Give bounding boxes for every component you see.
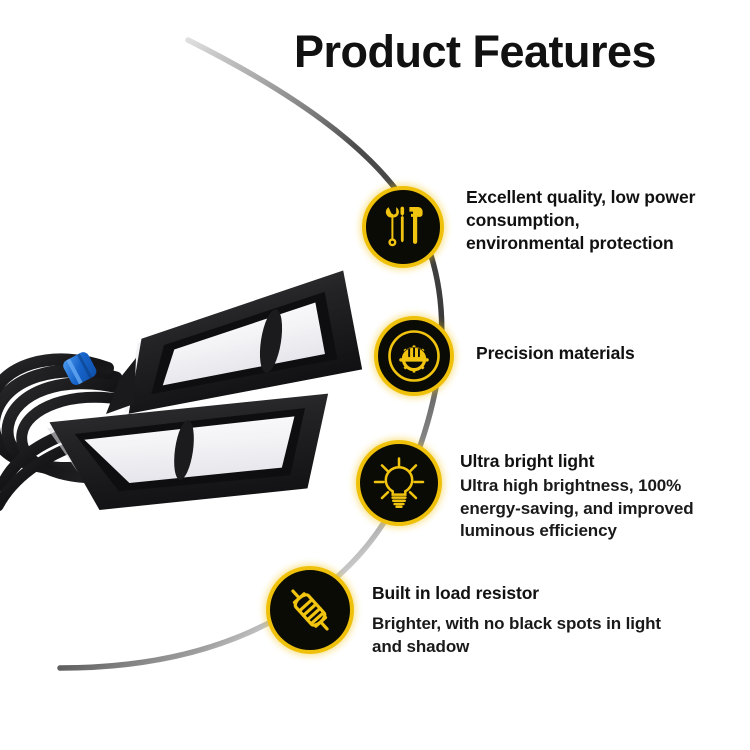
feature-text: Excellent quality, low power consumption… [466,186,738,255]
feature-text: Precision materials [476,316,738,365]
infographic-canvas: Excellent quality, low power consumption… [0,0,750,750]
feature-item-brightness: Ultra bright light Ultra high brightness… [356,440,740,543]
feature-item-quality: Excellent quality, low power consumption… [362,186,738,268]
feature-item-resistor: Built in load resistor Brighter, with no… [266,566,672,658]
hard-hat-gear-icon [386,328,442,384]
light-bulb-icon [371,455,427,511]
page-title: Product Features [0,28,750,75]
feature-item-precision: Precision materials [374,316,738,396]
tools-icon-badge [362,186,444,268]
hard-hat-gear-icon-badge [374,316,454,396]
feature-body: Ultra high brightness, 100% energy-savin… [460,475,740,543]
product-image [0,228,388,528]
feature-heading: Built in load resistor [372,582,672,605]
feature-text: Built in load resistor Brighter, with no… [372,566,672,658]
light-bulb-icon-badge [356,440,442,526]
resistor-icon [281,581,339,639]
tools-icon [377,201,429,253]
resistor-icon-badge [266,566,354,654]
feature-heading: Ultra bright light [460,450,740,473]
feature-text: Ultra bright light Ultra high brightness… [460,440,740,543]
led-lamp-upper [106,270,364,414]
feature-body: Brighter, with no black spots in light a… [372,613,672,658]
feature-heading: Excellent quality, low power consumption… [466,186,738,255]
feature-heading: Precision materials [476,342,738,365]
